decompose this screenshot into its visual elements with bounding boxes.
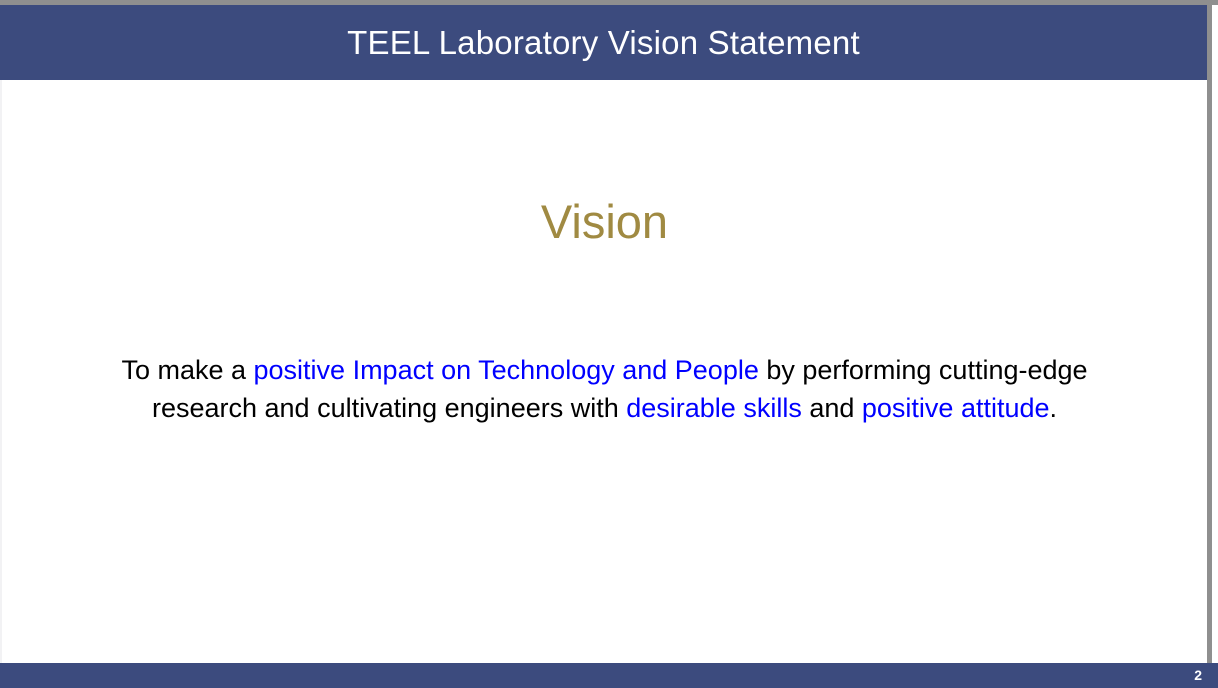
text-segment-plain-3: and — [802, 393, 862, 423]
text-segment-plain: To make a — [121, 355, 253, 385]
presentation-slide: TEEL Laboratory Vision Statement Vision … — [0, 0, 1218, 688]
slide-title: TEEL Laboratory Vision Statement — [347, 26, 860, 59]
slide-content-area: Vision To make a positive Impact on Tech… — [2, 80, 1207, 663]
vision-statement-paragraph: To make a positive Impact on Technology … — [98, 351, 1111, 427]
slide-footer-bar — [0, 663, 1218, 688]
slide-right-border — [1207, 0, 1212, 688]
section-heading-vision: Vision — [2, 194, 1207, 250]
text-segment-highlight-skills: desirable skills — [626, 393, 802, 423]
page-number: 2 — [1178, 665, 1202, 685]
slide-title-banner: TEEL Laboratory Vision Statement — [0, 5, 1207, 80]
text-segment-highlight-impact: positive Impact on Technology and People — [254, 355, 759, 385]
text-segment-highlight-attitude: positive attitude — [862, 393, 1050, 423]
text-segment-period: . — [1050, 393, 1058, 423]
